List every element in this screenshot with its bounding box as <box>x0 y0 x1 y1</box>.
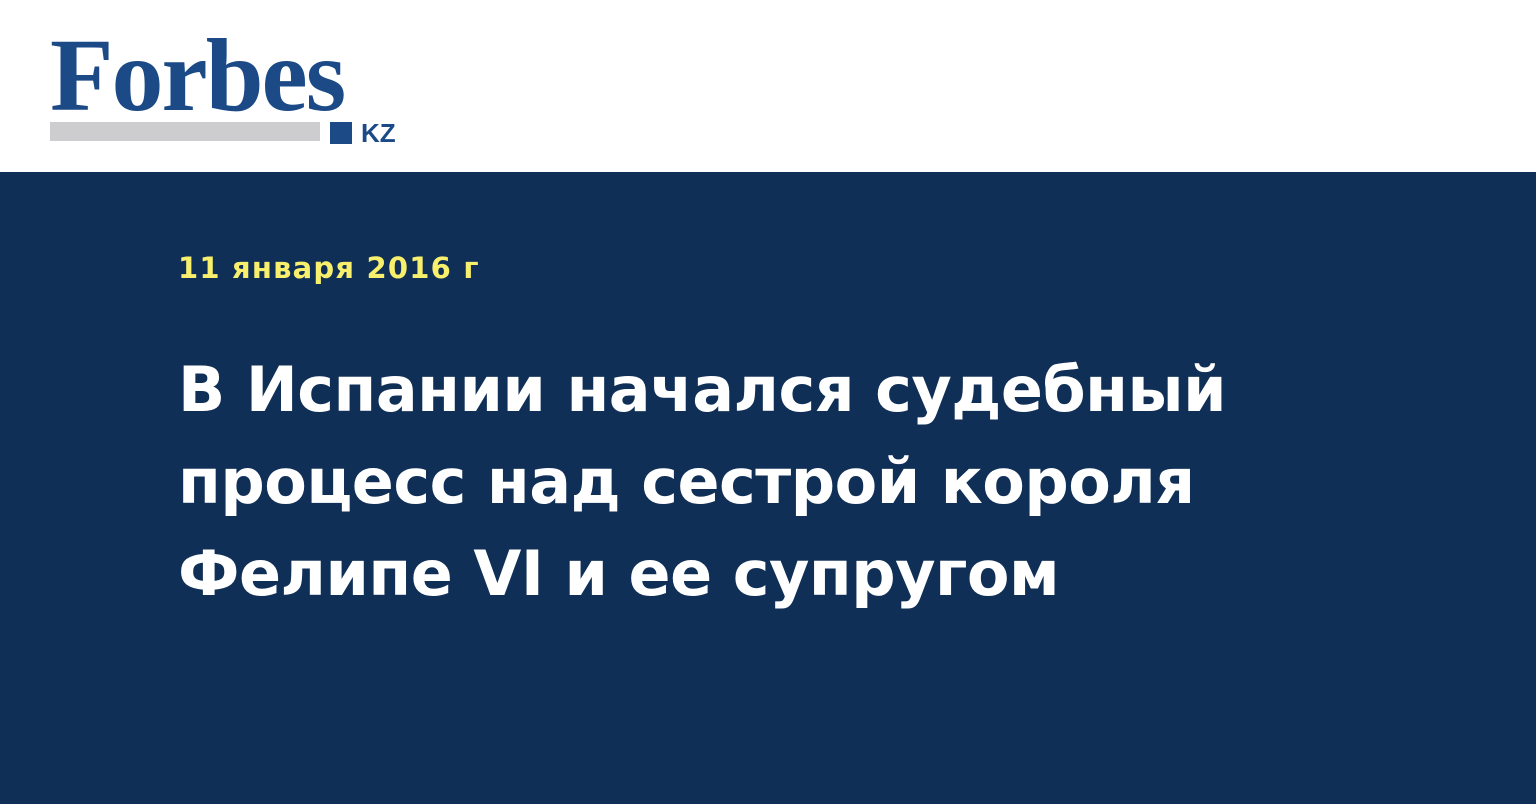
logo-underbar <box>50 122 320 141</box>
article-date: 11 января 2016 г <box>178 251 480 285</box>
article-page: Forbes kz 11 января 2016 г В Испании нач… <box>0 0 1536 804</box>
site-header: Forbes kz <box>0 0 1536 172</box>
forbes-wordmark: Forbes <box>50 24 344 128</box>
article-hero: 11 января 2016 г В Испании начался судеб… <box>0 172 1536 804</box>
forbes-kz-logo[interactable]: Forbes kz <box>50 24 410 146</box>
logo-kz-label: kz <box>361 120 396 146</box>
logo-kz-mark: kz <box>330 120 396 146</box>
article-headline: В Испании начался судебный процесс над с… <box>178 344 1238 620</box>
square-icon <box>330 122 352 144</box>
